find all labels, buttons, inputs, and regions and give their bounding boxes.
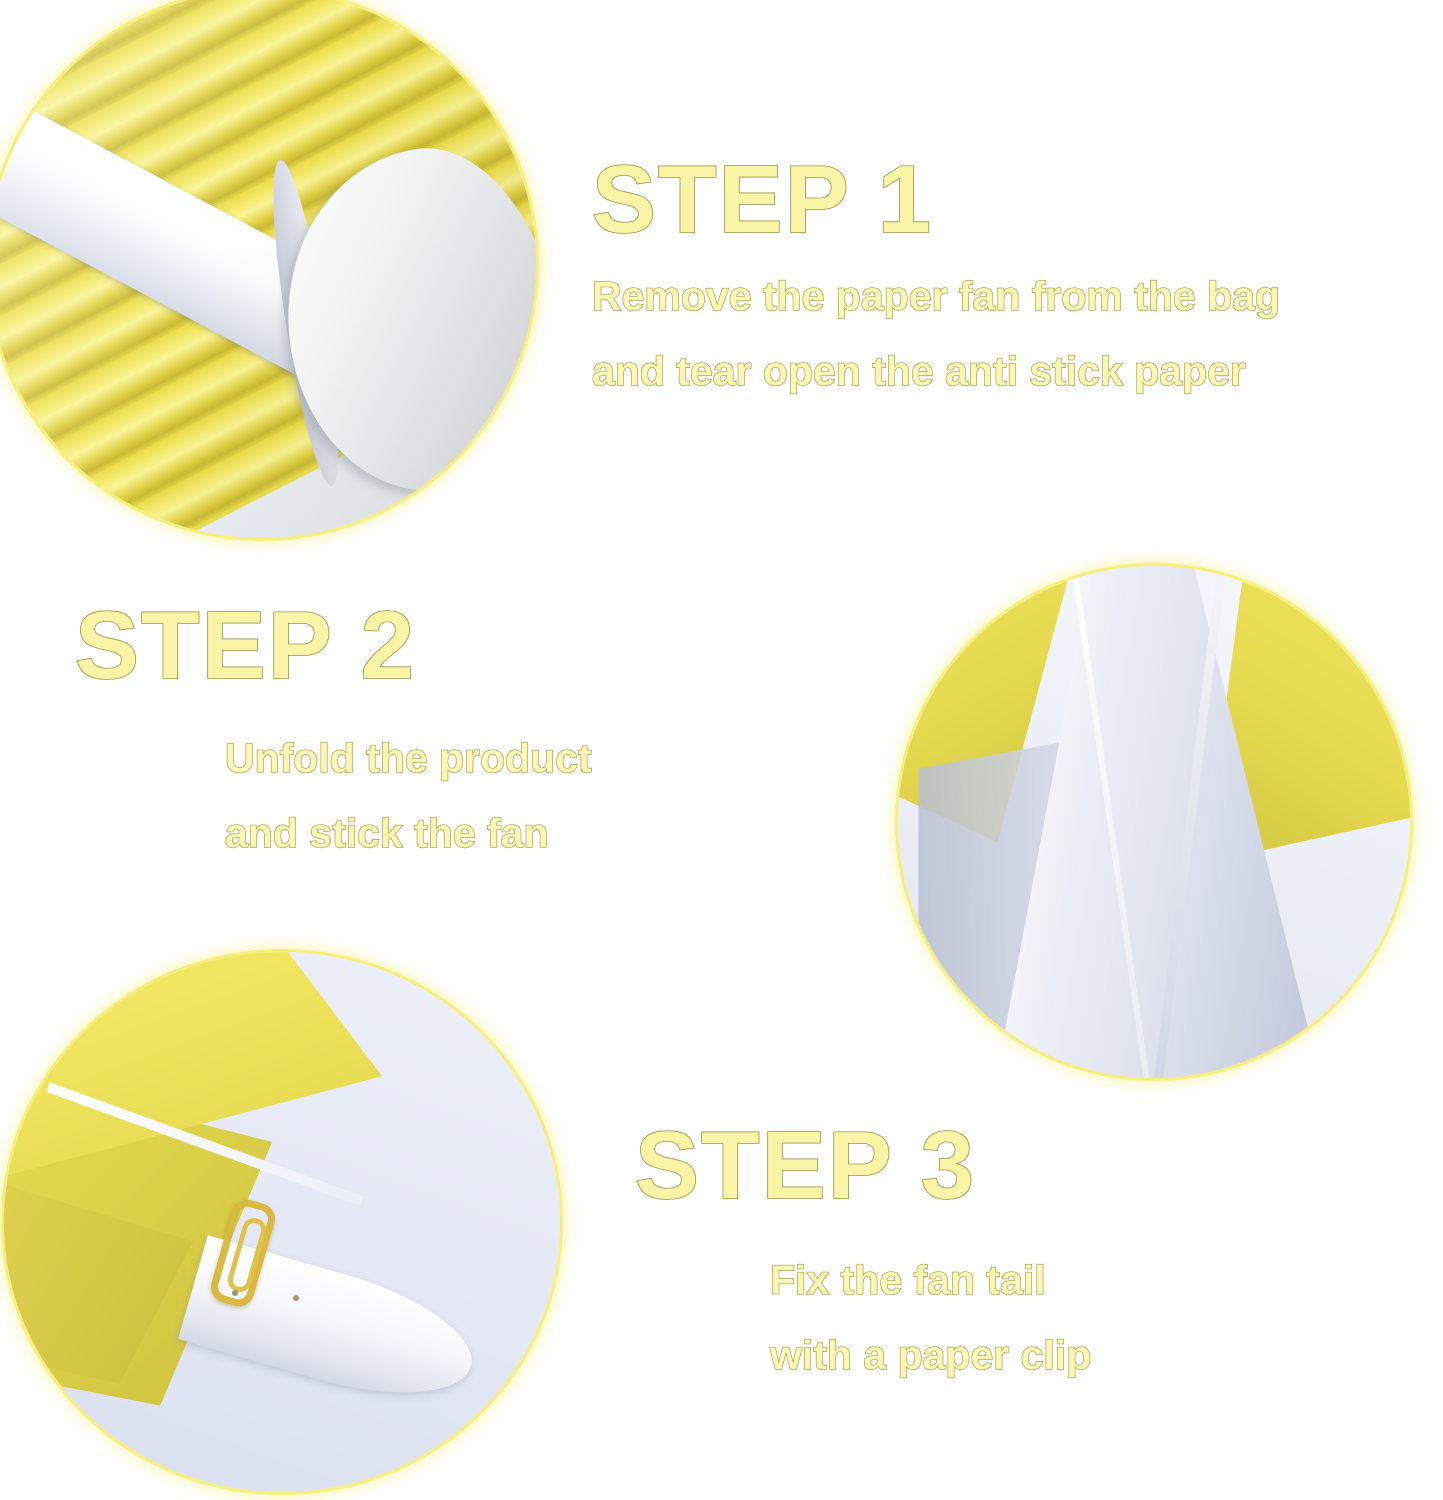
- tail-dot-right: [293, 1295, 299, 1301]
- step-2-line-1: Unfold the product: [225, 738, 592, 779]
- step-1-photo: [0, 0, 536, 538]
- step-3-title: STEP 3: [635, 1118, 1091, 1214]
- step-2-photo: [898, 566, 1410, 1078]
- step-1-title: STEP 1: [592, 152, 1280, 248]
- step-3-line-2: with a paper clip: [770, 1335, 1091, 1376]
- photo-lighting-overlay: [0, 0, 536, 538]
- tail-dot-left: [232, 1290, 238, 1296]
- step-1-text-block: STEP 1 Remove the paper fan from the bag…: [592, 152, 1280, 392]
- step-3-photo-inner: [4, 952, 560, 1492]
- step-1-photo-inner: [0, 0, 536, 538]
- step-2-title: STEP 2: [75, 598, 592, 694]
- step-2-photo-inner: [898, 566, 1410, 1078]
- step-2-text-block: STEP 2 Unfold the product and stick the …: [75, 598, 592, 854]
- step-3-text-block: STEP 3 Fix the fan tail with a paper cli…: [635, 1118, 1091, 1376]
- step-3-line-1: Fix the fan tail: [770, 1260, 1091, 1301]
- instruction-infographic: STEP 1 Remove the paper fan from the bag…: [0, 0, 1443, 1500]
- step-1-line-1: Remove the paper fan from the bag: [592, 276, 1280, 317]
- step-1-line-2: and tear open the anti stick paper: [592, 351, 1280, 392]
- step-3-photo: [4, 952, 560, 1492]
- step-2-line-2: and stick the fan: [225, 813, 592, 854]
